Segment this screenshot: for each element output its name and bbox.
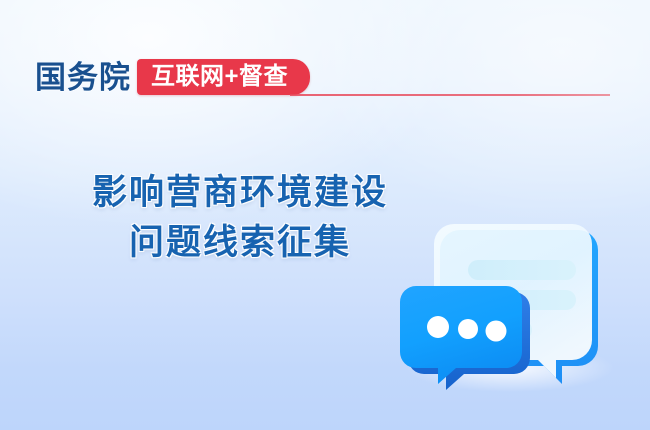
banner-root: 国务院 互联网+督查 影响营商环境建设 问题线索征集 — [0, 0, 650, 430]
page-title-line-2: 问题线索征集 — [60, 218, 420, 268]
program-badge: 互联网+督查 — [137, 59, 310, 95]
big-bubble-text-bar-1 — [468, 260, 576, 280]
gov-label: 国务院 — [35, 62, 131, 93]
typing-dot-1 — [427, 316, 449, 338]
program-badge-label: 互联网+督查 — [151, 65, 288, 89]
typing-dot-2 — [458, 319, 478, 339]
chat-bubbles-illustration — [398, 208, 614, 394]
typing-dot-3 — [486, 321, 507, 342]
chat-bubbles-icon — [398, 208, 614, 394]
page-title-line-1: 影响营商环境建设 — [60, 168, 420, 218]
header-divider-line — [290, 94, 610, 96]
header: 国务院 互联网+督查 — [35, 56, 310, 98]
page-title: 影响营商环境建设 问题线索征集 — [60, 168, 420, 267]
